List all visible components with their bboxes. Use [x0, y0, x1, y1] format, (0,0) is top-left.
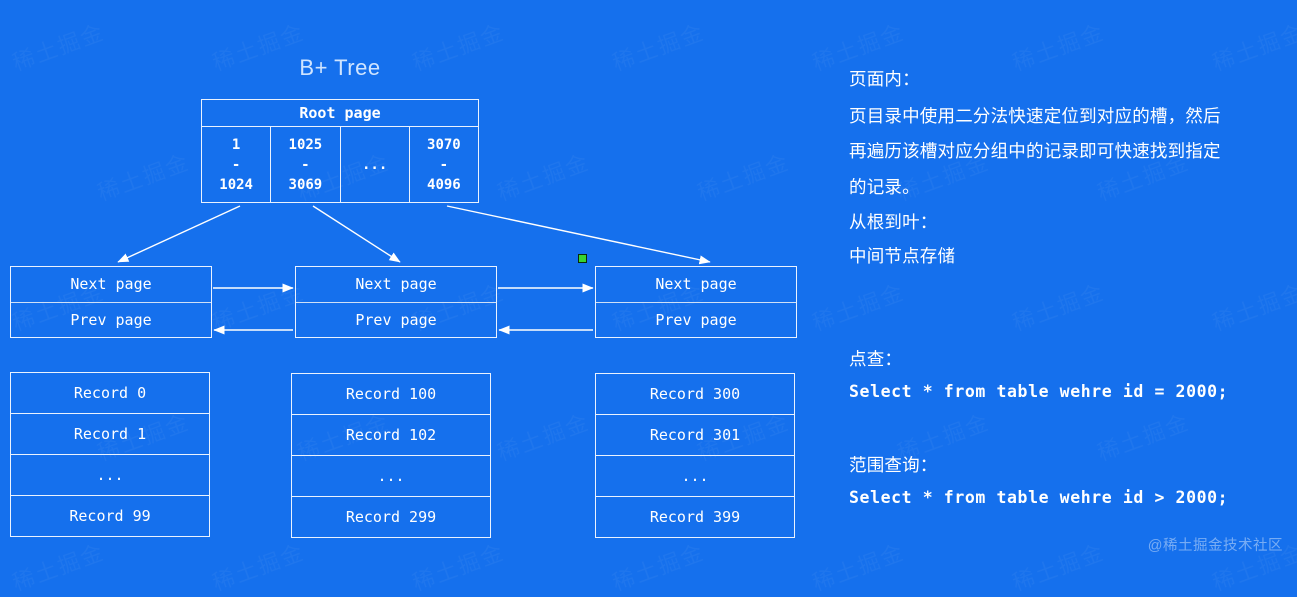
root-cell-3-to: 4096 [427, 175, 461, 195]
record-row: Record 0 [11, 373, 209, 414]
leaf-node-2-next-page: Next page [596, 267, 796, 303]
root-cell-2-ellipsis: ... [362, 155, 387, 175]
root-cell-3-dash: - [440, 155, 448, 175]
annotation-heading-page-inner: 页面内： [849, 66, 920, 91]
root-cell-1: 1025 - 3069 [271, 127, 340, 202]
annotation-text-panel: 页面内：页目录中使用二分法快速定位到对应的槽，然后再遍历该槽对应分组中的记录即可… [849, 0, 1297, 569]
leaf-node-0: Next page Prev page [10, 266, 212, 338]
annotation-body-1: 页目录中使用二分法快速定位到对应的槽，然后 [849, 103, 1221, 128]
root-cell-0: 1 - 1024 [202, 127, 271, 202]
annotation-sql-point-query: Select * from table wehre id = 2000; [849, 382, 1228, 401]
root-cell-1-to: 3069 [289, 175, 323, 195]
annotation-body-2: 再遍历该槽对应分组中的记录即可快速找到指定 [849, 138, 1221, 163]
record-box-1: Record 100 Record 102 ... Record 299 [291, 373, 491, 538]
diagram-title: B+ Tree [290, 55, 390, 81]
leaf-node-1: Next page Prev page [295, 266, 497, 338]
site-watermark: @稀土掘金技术社区 [1148, 534, 1283, 555]
record-box-0: Record 0 Record 1 ... Record 99 [10, 372, 210, 537]
root-page-cells: 1 - 1024 1025 - 3069 ... 3070 - 4096 [202, 127, 478, 202]
record-row: Record 399 [596, 497, 794, 537]
leaf-node-1-prev-page: Prev page [296, 303, 496, 338]
record-row: Record 102 [292, 415, 490, 456]
root-cell-3: 3070 - 4096 [410, 127, 478, 202]
root-cell-3-from: 3070 [427, 135, 461, 155]
record-row: Record 301 [596, 415, 794, 456]
root-cell-0-dash: - [232, 155, 240, 175]
leaf-node-2: Next page Prev page [595, 266, 797, 338]
root-cell-2: ... [341, 127, 410, 202]
root-cell-0-to: 1024 [219, 175, 253, 195]
root-cell-1-dash: - [301, 155, 309, 175]
annotation-heading-range-query: 范围查询： [849, 452, 938, 477]
annotation-heading-root-to-leaf: 从根到叶： [849, 209, 938, 234]
record-row: Record 1 [11, 414, 209, 455]
root-page-header: Root page [202, 100, 478, 127]
cursor-marker-icon [578, 254, 587, 263]
record-row: Record 99 [11, 496, 209, 536]
root-cell-0-from: 1 [232, 135, 240, 155]
leaf-node-1-next-page: Next page [296, 267, 496, 303]
root-page-node: Root page 1 - 1024 1025 - 3069 ... 3070 … [201, 99, 479, 203]
root-cell-1-from: 1025 [289, 135, 323, 155]
record-row: Record 300 [596, 374, 794, 415]
leaf-node-0-next-page: Next page [11, 267, 211, 303]
record-row: Record 100 [292, 374, 490, 415]
annotation-body-3: 的记录。 [849, 174, 920, 199]
leaf-node-2-prev-page: Prev page [596, 303, 796, 338]
annotation-body-4: 中间节点存储 [849, 243, 955, 268]
record-row: ... [292, 456, 490, 497]
record-row: Record 299 [292, 497, 490, 537]
annotation-heading-point-query: 点查： [849, 346, 902, 371]
record-row: ... [11, 455, 209, 496]
btree-diagram: B+ Tree Root page 1 - 1024 1025 - 3069 .… [0, 0, 830, 569]
leaf-node-0-prev-page: Prev page [11, 303, 211, 338]
record-row: ... [596, 456, 794, 497]
record-box-2: Record 300 Record 301 ... Record 399 [595, 373, 795, 538]
annotation-sql-range-query: Select * from table wehre id > 2000; [849, 488, 1228, 507]
